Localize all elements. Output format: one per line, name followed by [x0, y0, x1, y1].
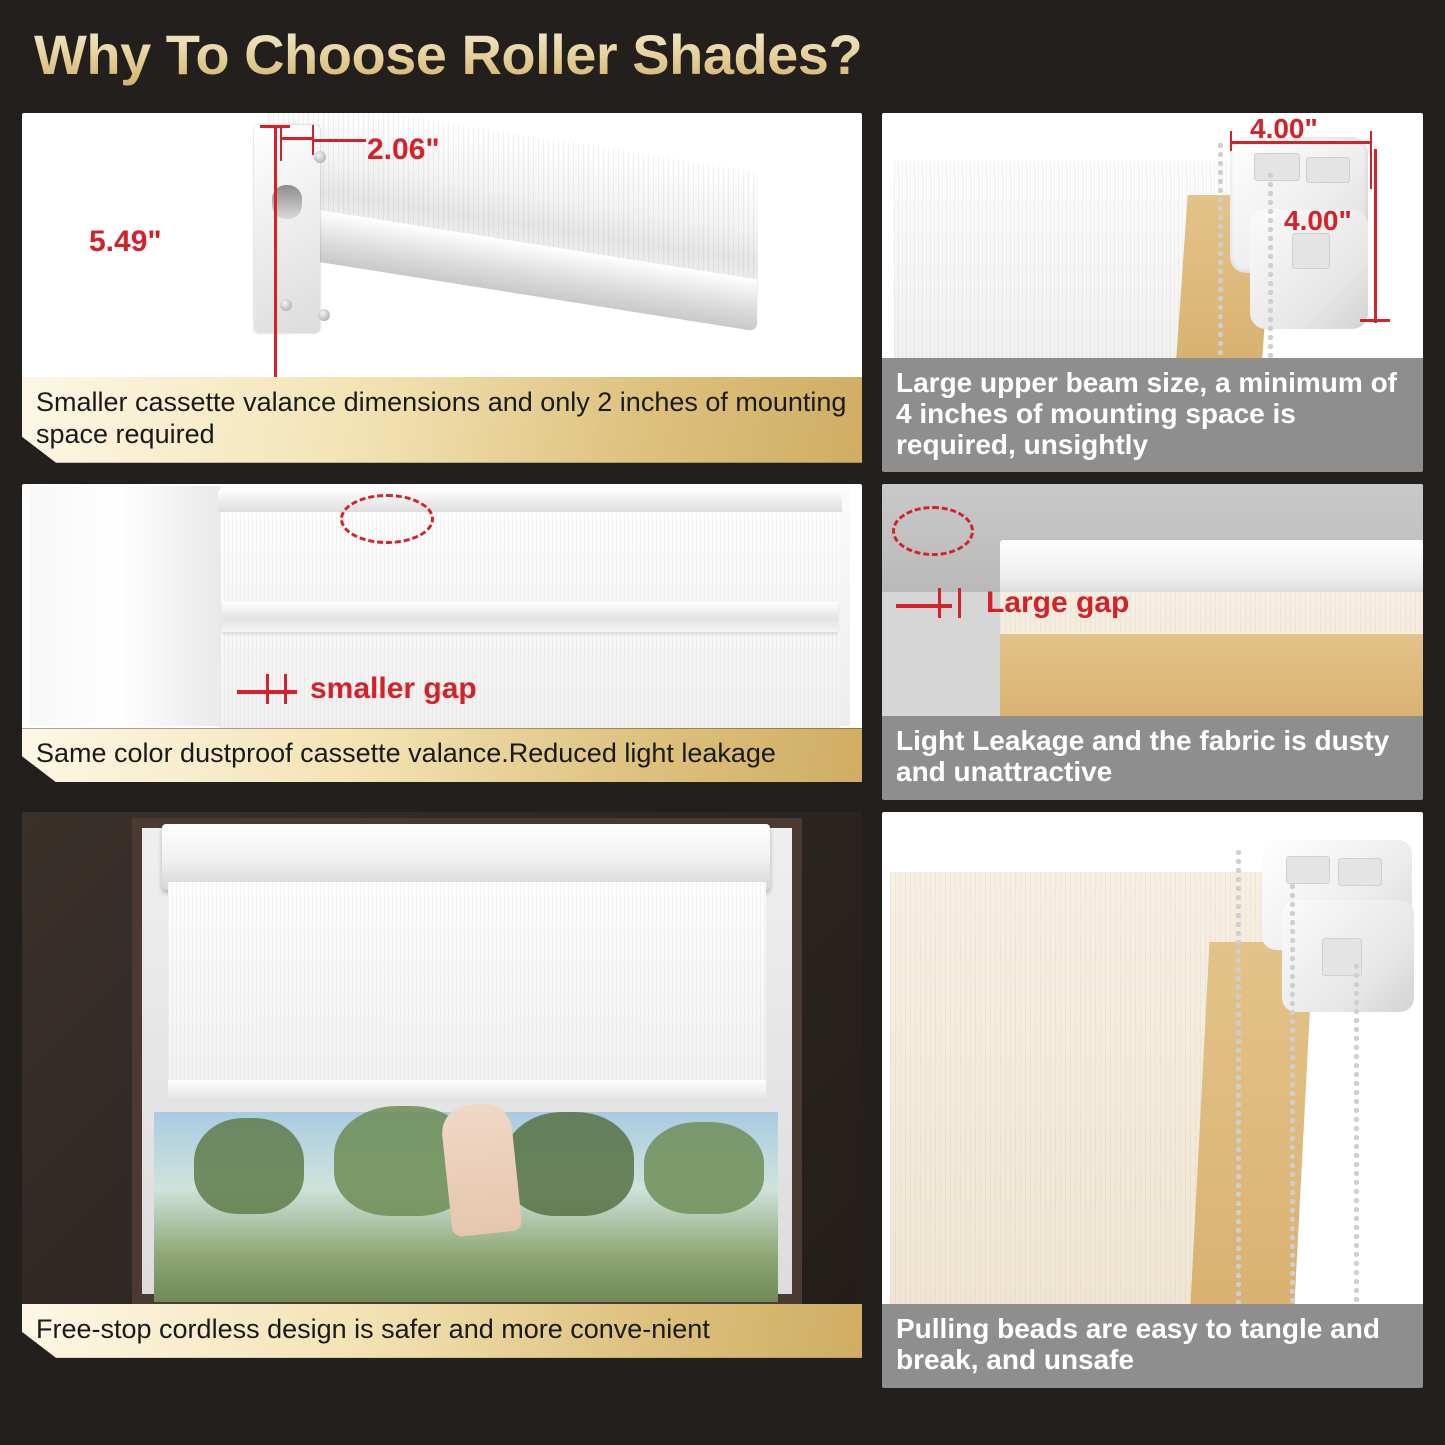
bead-chain — [1266, 171, 1275, 358]
width-dimension-tick-left — [280, 125, 282, 161]
photo-pulling-beads — [882, 812, 1423, 1304]
gap-tick-right — [284, 674, 287, 704]
bracket-plate — [1286, 856, 1330, 884]
photo-cordless-window — [22, 812, 862, 1304]
hand — [439, 1101, 522, 1238]
gap-arrow-line — [896, 604, 952, 608]
beam-width-label: 4.00" — [1250, 113, 1318, 145]
comparison-row-1: 2.06" 5.49" Smaller cassette valance dim… — [22, 113, 1423, 472]
card-caption: Large upper beam size, a minimum of 4 in… — [882, 358, 1423, 472]
screw-icon — [318, 309, 330, 321]
width-dimension-label: 2.06" — [367, 133, 440, 167]
height-dimension-tick-top — [260, 125, 290, 128]
comparison-grid: 2.06" 5.49" Smaller cassette valance dim… — [22, 113, 1423, 1400]
infographic-page: Why To Choose Roller Shades? — [0, 0, 1445, 1445]
screw-icon — [280, 299, 292, 311]
beam-width-tick-right — [1370, 131, 1372, 189]
shade-mid-rail — [222, 602, 838, 632]
shade-bottom-bar — [168, 1080, 766, 1102]
photo-smaller-gap: smaller gap — [22, 484, 862, 728]
photo-cassette-valance: 2.06" 5.49" — [22, 113, 862, 377]
card-cordless-design: Free-stop cordless design is safer and m… — [22, 812, 862, 1388]
tree-shape — [504, 1112, 634, 1216]
comparison-row-2: smaller gap Same color dustproof cassett… — [22, 484, 1423, 800]
bead-chain — [1216, 141, 1225, 358]
shade-fabric — [168, 882, 766, 1094]
width-dimension-line — [280, 137, 314, 140]
height-dimension-line — [274, 125, 277, 377]
gap-tick-right — [958, 588, 961, 618]
beam-depth-tick-bottom — [1360, 319, 1390, 322]
window-jamb — [30, 486, 220, 726]
cassette-valance — [162, 824, 770, 890]
gap-tick-left — [266, 674, 269, 704]
width-dimension-leader — [314, 139, 366, 142]
height-dimension-label: 5.49" — [89, 225, 162, 259]
card-caption: Light Leakage and the fabric is dusty an… — [882, 716, 1423, 800]
photo-large-beam: 4.00" 4.00" — [882, 113, 1423, 358]
card-caption: Free-stop cordless design is safer and m… — [22, 1304, 862, 1358]
bracket-plate — [1254, 153, 1300, 181]
card-pulling-beads: Pulling beads are easy to tangle and bre… — [882, 812, 1423, 1388]
gap-tick-left — [938, 588, 941, 618]
page-title: Why To Choose Roller Shades? — [34, 22, 862, 87]
card-light-leakage: Large gap Light Leakage and the fabric i… — [882, 484, 1423, 800]
bead-chain — [1288, 882, 1297, 1304]
tree-shape — [194, 1118, 304, 1214]
shade-fabric-tan — [1000, 634, 1423, 716]
screw-icon — [314, 151, 326, 163]
gap-label: Large gap — [986, 586, 1129, 620]
comparison-row-3: Free-stop cordless design is safer and m… — [22, 812, 1423, 1388]
bracket-plate — [1338, 858, 1382, 886]
bead-chain — [1234, 848, 1243, 1304]
bracket-plate — [1306, 157, 1350, 183]
beam-depth-line — [1374, 149, 1377, 323]
tree-shape — [644, 1122, 764, 1214]
card-caption: Pulling beads are easy to tangle and bre… — [882, 1304, 1423, 1388]
bracket-plate — [1292, 233, 1330, 269]
cassette-valance — [218, 490, 842, 512]
card-dustproof-cassette-valance: smaller gap Same color dustproof cassett… — [22, 484, 862, 800]
card-cassette-valance-dimensions: 2.06" 5.49" Smaller cassette valance dim… — [22, 113, 862, 472]
bead-chain — [1352, 962, 1361, 1304]
beam-depth-label: 4.00" — [1284, 205, 1352, 237]
card-caption: Same color dustproof cassette valance.Re… — [22, 728, 862, 782]
card-caption: Smaller cassette valance dimensions and … — [22, 377, 862, 463]
card-large-upper-beam: 4.00" 4.00" Large upper beam size, a min… — [882, 113, 1423, 472]
gap-label: smaller gap — [310, 672, 477, 706]
photo-large-gap: Large gap — [882, 484, 1423, 716]
